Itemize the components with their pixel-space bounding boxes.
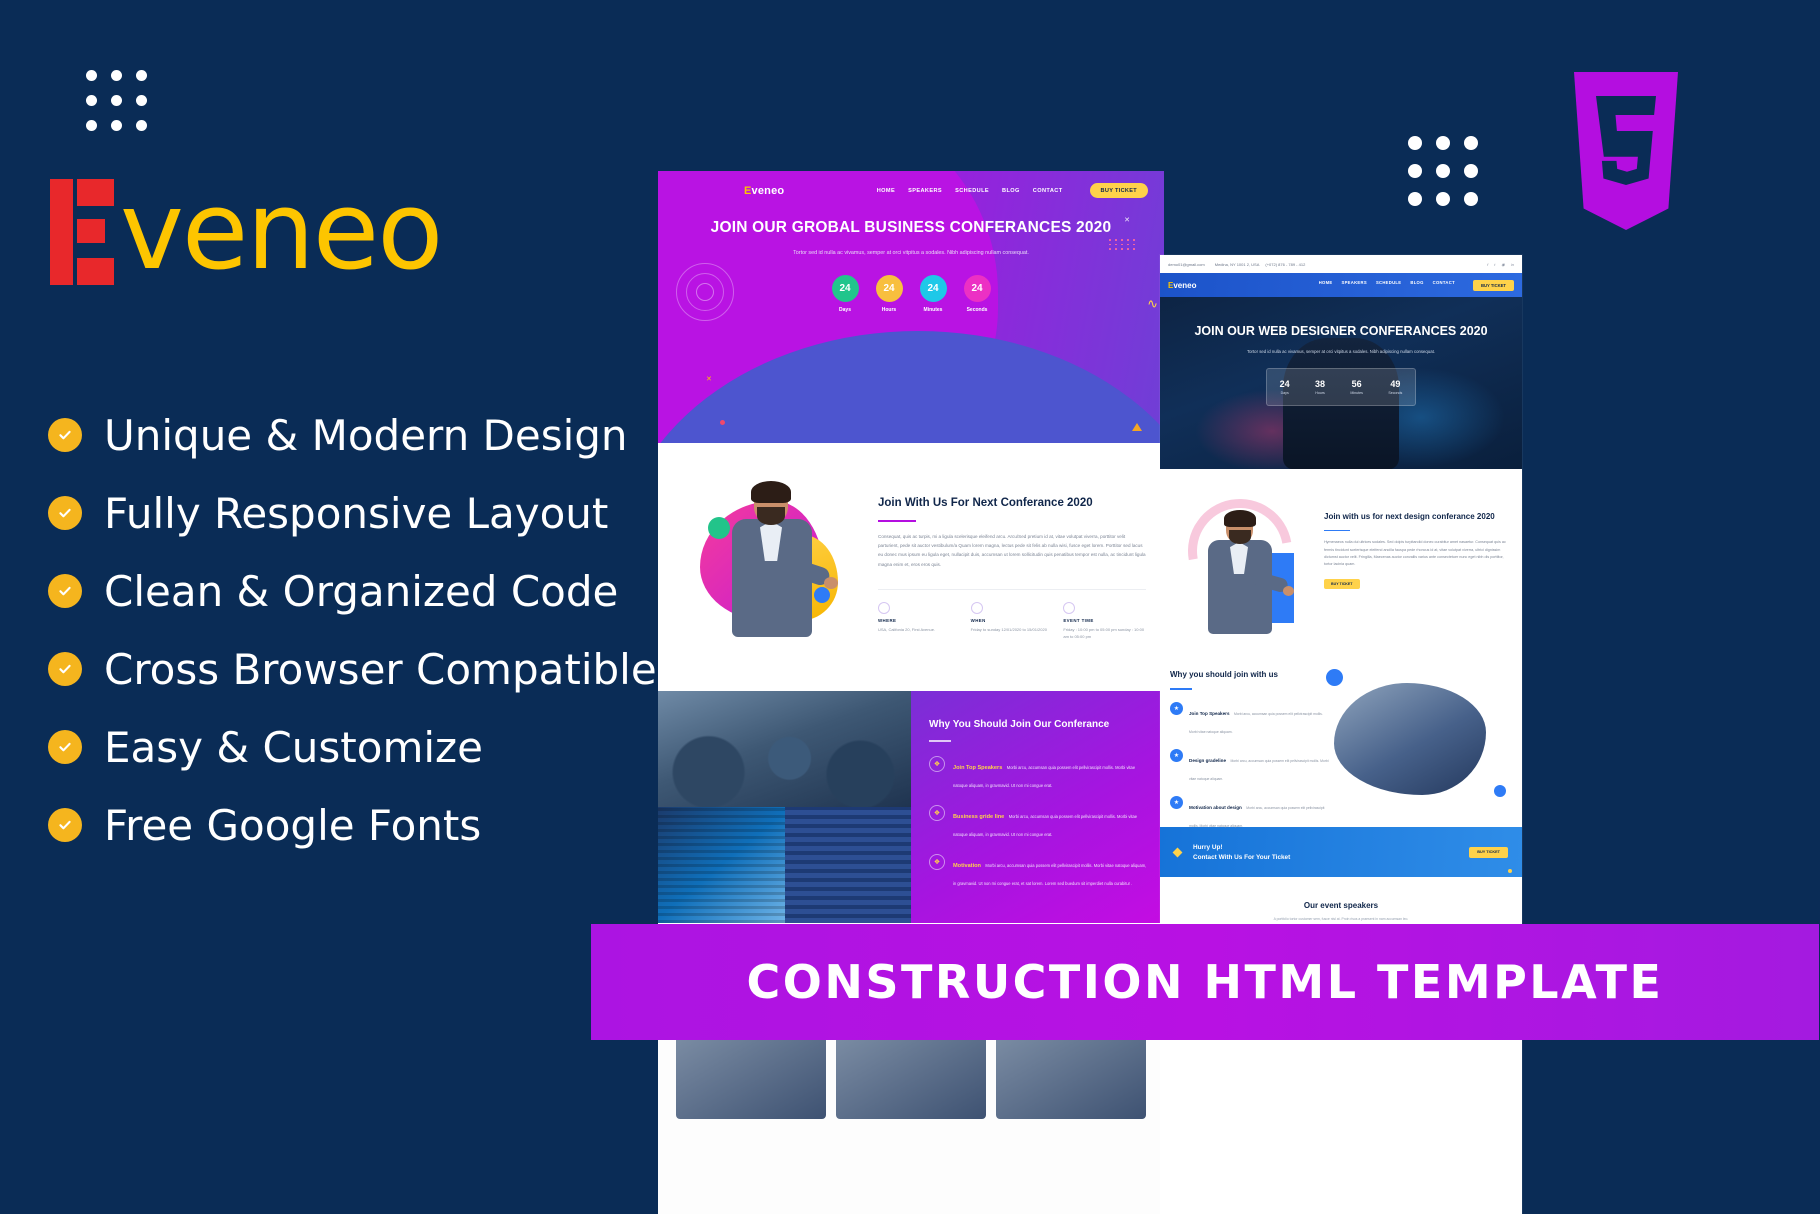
countdown-label: Minutes bbox=[1350, 391, 1363, 395]
red-dot-icon bbox=[720, 420, 725, 425]
countdown-label: Hours bbox=[1315, 391, 1325, 395]
why-item: ★ Motivation about design Morbi arcu, ac… bbox=[1170, 796, 1330, 832]
nav-item-blog[interactable]: BLOG bbox=[1410, 280, 1423, 291]
mockup2-speakers-section: Our event speakers A portfolio tortor cu… bbox=[1160, 877, 1522, 921]
feature-item: Clean & Organized Code bbox=[48, 564, 657, 618]
mockup1-navbar: Eveneo HOME SPEAKERS SCHEDULE BLOG CONTA… bbox=[658, 171, 1164, 198]
countdown-value: 49 bbox=[1388, 379, 1402, 389]
buy-ticket-button[interactable]: BUY TICKET bbox=[1473, 280, 1514, 291]
why-item-title: Motivation about design bbox=[1189, 805, 1242, 810]
mockup2-topbar: demo01@gmail.com Medina, NY 1001 2, USA … bbox=[1160, 255, 1522, 273]
hero-title: JOIN OUR WEB DESIGNER CONFERANCES 2020 bbox=[1160, 323, 1522, 341]
check-circle-icon bbox=[48, 496, 82, 530]
crowd-photo bbox=[658, 691, 911, 807]
close-icon[interactable]: ✕ bbox=[1124, 216, 1130, 224]
nav-item-home[interactable]: HOME bbox=[877, 188, 895, 194]
poster-root: veneo Unique & Modern Design Fully Respo… bbox=[0, 0, 1820, 1214]
feature-item: Free Google Fonts bbox=[48, 798, 657, 852]
mockup2-about-section: Join with us for next design conferance … bbox=[1160, 469, 1522, 649]
divider bbox=[1170, 688, 1192, 690]
person-photo bbox=[724, 485, 820, 653]
divider bbox=[1324, 530, 1350, 532]
countdown-label: Seconds bbox=[1388, 391, 1402, 395]
about-illustration bbox=[666, 467, 864, 675]
mockup1-nav-links: HOME SPEAKERS SCHEDULE BLOG CONTACT BUY … bbox=[877, 183, 1148, 198]
dot-pattern-icon bbox=[1109, 239, 1136, 250]
logo-letter-e: E bbox=[744, 185, 752, 197]
meta-value: Friday : 10:00 pm to 05:00 pm sunday : 1… bbox=[1063, 626, 1146, 640]
meta-title: EVENT TIME bbox=[1063, 618, 1146, 623]
countdown-label: Days bbox=[1280, 391, 1290, 395]
countdown-value: 24 bbox=[964, 275, 991, 302]
countdown-label: Seconds bbox=[964, 307, 991, 313]
about-illustration bbox=[1166, 491, 1316, 633]
feature-label: Cross Browser Compatible bbox=[104, 645, 657, 694]
feature-list: Unique & Modern Design Fully Responsive … bbox=[48, 408, 657, 876]
speaker-card[interactable] bbox=[996, 1029, 1146, 1119]
countdown-value: 24 bbox=[832, 275, 859, 302]
brand-letter-e-icon bbox=[50, 179, 114, 285]
nav-item-schedule[interactable]: SCHEDULE bbox=[1376, 280, 1401, 291]
about-title: Join With Us For Next Conferance 2020 bbox=[878, 495, 1146, 511]
speaker-icon: ❖ bbox=[929, 756, 945, 772]
event-meta-where: WHERE USA, Califonia 20, First Avenue. bbox=[878, 602, 961, 640]
countdown-unit-seconds: 49 Seconds bbox=[1388, 379, 1402, 395]
x-mark-icon: ✕ bbox=[706, 375, 712, 383]
audience-photo bbox=[658, 807, 785, 923]
location-icon bbox=[878, 602, 890, 614]
event-meta-when: WHEN Friday to sunday 12/01/2020 to 15/0… bbox=[971, 602, 1054, 640]
mockup1-hero: ∿ ✕ ✕ Eveneo HOME SPEAKERS SCHEDULE BLOG… bbox=[658, 171, 1164, 443]
accent-dot-icon bbox=[1508, 869, 1512, 873]
feature-label: Unique & Modern Design bbox=[104, 411, 628, 460]
mockup2-hero: JOIN OUR WEB DESIGNER CONFERANCES 2020 T… bbox=[1160, 297, 1522, 469]
person-photo bbox=[1202, 513, 1282, 643]
event-meta-time: EVENT TIME Friday : 10:00 pm to 05:00 pm… bbox=[1063, 602, 1146, 640]
cta-line2: Contact With Us For Your Ticket bbox=[1193, 854, 1290, 861]
meta-title: WHEN bbox=[971, 618, 1054, 623]
countdown-unit-minutes: 24 Minutes bbox=[920, 275, 947, 313]
facebook-icon[interactable]: f bbox=[1487, 262, 1488, 267]
feature-item: Unique & Modern Design bbox=[48, 408, 657, 462]
logo-name: veneo bbox=[752, 185, 785, 197]
mockup1-why-section: Why You Should Join Our Conferance ❖ Joi… bbox=[658, 691, 1164, 923]
why-image bbox=[1330, 655, 1512, 809]
cta-line1: Hurry Up! bbox=[1193, 844, 1290, 851]
grid-icon: ❖ bbox=[929, 805, 945, 821]
why-title: Why you should join with us bbox=[1170, 669, 1330, 681]
countdown-value: 38 bbox=[1315, 379, 1325, 389]
why-item-title: Join Top Speakers bbox=[953, 765, 1002, 771]
speaker-card[interactable] bbox=[836, 1029, 986, 1119]
countdown-unit-days: 24 Days bbox=[832, 275, 859, 313]
hero-subtitle: Tortor sed id nulla ac vivamus, semper a… bbox=[688, 248, 1134, 258]
about-body: Hymenaeos nulla dui ultrices sodales. Se… bbox=[1324, 539, 1510, 569]
feature-item: Fully Responsive Layout bbox=[48, 486, 657, 540]
why-item-body: Morbi arcu, accumsan quia possem elit pe… bbox=[953, 863, 1146, 886]
feature-label: Easy & Customize bbox=[104, 723, 483, 772]
mockup1-hero-content: JOIN OUR GROBAL BUSINESS CONFERANCES 202… bbox=[658, 218, 1164, 258]
why-item-title: Design gradeline bbox=[1189, 758, 1226, 763]
why-item: ❖ Join Top Speakers Morbi arcu, accumsan… bbox=[929, 756, 1148, 792]
nav-item-contact[interactable]: CONTACT bbox=[1033, 188, 1063, 194]
countdown-timer: 24 Days 38 Hours 56 Minutes 49 Seconds bbox=[1266, 368, 1416, 406]
nav-item-schedule[interactable]: SCHEDULE bbox=[955, 188, 989, 194]
mockup2-cta-banner: Hurry Up! Contact With Us For Your Ticke… bbox=[1160, 827, 1522, 877]
event-meta-row: WHERE USA, Califonia 20, First Avenue. W… bbox=[878, 589, 1146, 640]
about-text-block: Join with us for next design conferance … bbox=[1316, 491, 1510, 633]
mockup1-about-section: Join With Us For Next Conferance 2020 Co… bbox=[658, 443, 1164, 691]
nav-item-speakers[interactable]: SPEAKERS bbox=[1342, 280, 1367, 291]
topbar-address: Medina, NY 1001 2, USA bbox=[1215, 262, 1260, 267]
nav-item-home[interactable]: HOME bbox=[1319, 280, 1333, 291]
why-text-block: Why you should join with us ★ Join Top S… bbox=[1170, 655, 1330, 809]
buy-ticket-button[interactable]: BUY TICKET bbox=[1324, 579, 1360, 589]
countdown-unit-hours: 38 Hours bbox=[1315, 379, 1325, 395]
speakers-title: Our event speakers bbox=[1160, 901, 1522, 910]
motivation-icon: ★ bbox=[1170, 796, 1183, 809]
why-item-title: Business gride line bbox=[953, 814, 1004, 820]
why-title: Why You Should Join Our Conferance bbox=[929, 717, 1148, 732]
buy-ticket-button[interactable]: BUY TICKET bbox=[1090, 183, 1148, 198]
why-item: ★ Join Top Speakers Morbi arcu, accumsan… bbox=[1170, 702, 1330, 738]
mockup2-hero-content: JOIN OUR WEB DESIGNER CONFERANCES 2020 T… bbox=[1160, 297, 1522, 356]
meta-value: Friday to sunday 12/01/2020 to 15/01/202… bbox=[971, 626, 1054, 633]
nav-item-contact[interactable]: CONTACT bbox=[1433, 280, 1455, 291]
bottom-banner: CONSTRUCTION HTML TEMPLATE bbox=[591, 924, 1819, 1040]
speaker-card[interactable] bbox=[676, 1029, 826, 1119]
nav-item-speakers[interactable]: SPEAKERS bbox=[908, 188, 942, 194]
why-item: ❖ Business gride line Morbi arcu, accums… bbox=[929, 805, 1148, 841]
topbar-phone: (+072) 876 - 789 - 412 bbox=[1265, 262, 1305, 267]
about-body: Consequat, quis ac turpis, mi a ligula s… bbox=[878, 532, 1146, 569]
nav-item-blog[interactable]: BLOG bbox=[1002, 188, 1020, 194]
countdown-unit-days: 24 Days bbox=[1280, 379, 1290, 395]
divider bbox=[929, 740, 951, 742]
countdown-value: 24 bbox=[920, 275, 947, 302]
feature-label: Clean & Organized Code bbox=[104, 567, 618, 616]
countdown-label: Minutes bbox=[920, 307, 947, 313]
design-icon: ★ bbox=[1170, 749, 1183, 762]
instagram-icon[interactable]: ◉ bbox=[1501, 262, 1505, 267]
mockup2-logo[interactable]: Eveneo bbox=[1168, 281, 1196, 290]
why-item: ★ Design gradeline Morbi arcu, accumsan … bbox=[1170, 749, 1330, 785]
auditorium-photo bbox=[785, 807, 912, 923]
motivation-icon: ❖ bbox=[929, 854, 945, 870]
team-photo bbox=[1334, 683, 1486, 795]
why-text-panel: Why You Should Join Our Conferance ❖ Joi… bbox=[911, 691, 1164, 923]
html5-logo-icon bbox=[1568, 72, 1684, 230]
meta-title: WHERE bbox=[878, 618, 961, 623]
calendar-icon bbox=[971, 602, 983, 614]
twitter-icon[interactable]: t bbox=[1494, 262, 1495, 267]
divider bbox=[878, 520, 916, 522]
countdown-unit-minutes: 56 Minutes bbox=[1350, 379, 1363, 395]
why-image-collage bbox=[658, 691, 911, 923]
feature-label: Fully Responsive Layout bbox=[104, 489, 608, 538]
website-mockup-desktop: ∿ ✕ ✕ Eveneo HOME SPEAKERS SCHEDULE BLOG… bbox=[658, 171, 1164, 1214]
banner-title: CONSTRUCTION HTML TEMPLATE bbox=[747, 955, 1664, 1009]
check-circle-icon bbox=[48, 808, 82, 842]
about-title: Join with us for next design conferance … bbox=[1324, 511, 1510, 523]
mockup1-logo[interactable]: Eveneo bbox=[744, 185, 784, 197]
diamond-icon bbox=[1173, 847, 1183, 857]
check-circle-icon bbox=[48, 652, 82, 686]
website-mockup-secondary: demo01@gmail.com Medina, NY 1001 2, USA … bbox=[1160, 255, 1522, 1214]
countdown-timer: 24 Days 24 Hours 24 Minutes 24 Seconds bbox=[658, 275, 1164, 313]
triangle-icon bbox=[1132, 423, 1142, 431]
mockup2-navbar: Eveneo HOME SPEAKERS SCHEDULE BLOG CONTA… bbox=[1160, 273, 1522, 297]
feature-label: Free Google Fonts bbox=[104, 801, 481, 850]
mockup2-nav-links: HOME SPEAKERS SCHEDULE BLOG CONTACT BUY … bbox=[1319, 280, 1514, 291]
hero-subtitle: Tortor sed id nulla ac vivamus, semper a… bbox=[1160, 348, 1522, 356]
logo-name: veneo bbox=[1173, 281, 1196, 290]
check-circle-icon bbox=[48, 730, 82, 764]
why-item-title: Join Top Speakers bbox=[1189, 711, 1230, 716]
why-item-title: Motivation bbox=[953, 863, 981, 869]
countdown-value: 56 bbox=[1350, 379, 1363, 389]
brand-name: veneo bbox=[120, 178, 441, 286]
hero-title: JOIN OUR GROBAL BUSINESS CONFERANCES 202… bbox=[688, 218, 1134, 239]
countdown-label: Days bbox=[832, 307, 859, 313]
social-icons: f t ◉ in bbox=[1487, 262, 1514, 267]
dot-grid-icon bbox=[86, 70, 147, 131]
clock-icon bbox=[1063, 602, 1075, 614]
check-circle-icon bbox=[48, 418, 82, 452]
linkedin-icon[interactable]: in bbox=[1511, 262, 1514, 267]
feature-item: Cross Browser Compatible bbox=[48, 642, 657, 696]
meta-value: USA, Califonia 20, First Avenue. bbox=[878, 626, 961, 633]
countdown-value: 24 bbox=[1280, 379, 1290, 389]
buy-ticket-button[interactable]: BUY TICKET bbox=[1469, 847, 1508, 858]
about-text-block: Join With Us For Next Conferance 2020 Co… bbox=[864, 467, 1146, 675]
why-item: ❖ Motivation Morbi arcu, accumsan quia p… bbox=[929, 854, 1148, 890]
topbar-email[interactable]: demo01@gmail.com bbox=[1168, 262, 1205, 267]
countdown-unit-hours: 24 Hours bbox=[876, 275, 903, 313]
brand-logo: veneo bbox=[50, 178, 441, 286]
check-circle-icon bbox=[48, 574, 82, 608]
mockup2-why-section: Why you should join with us ★ Join Top S… bbox=[1160, 649, 1522, 827]
countdown-value: 24 bbox=[876, 275, 903, 302]
speaker-icon: ★ bbox=[1170, 702, 1183, 715]
feature-item: Easy & Customize bbox=[48, 720, 657, 774]
dot-grid-icon bbox=[1408, 136, 1478, 206]
countdown-unit-seconds: 24 Seconds bbox=[964, 275, 991, 313]
countdown-label: Hours bbox=[876, 307, 903, 313]
